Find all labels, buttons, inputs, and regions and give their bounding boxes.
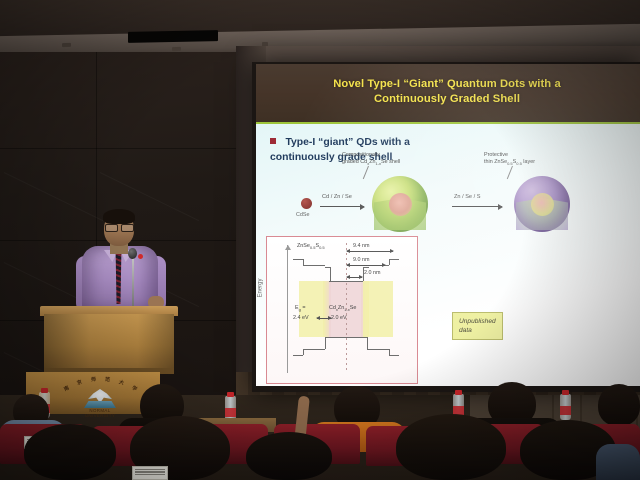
slide-title-line1: Novel Type-I “Giant” Quantum Dots with a — [256, 77, 638, 92]
bullet-square-icon — [270, 138, 276, 144]
speaker-hair — [103, 209, 135, 224]
caption-graded-shell: Compositionally graded CdxZn1-xSe shell — [342, 152, 400, 167]
dim-mid-label: 9.0 nm — [353, 257, 369, 263]
energy-axis-label: Energy — [258, 278, 264, 297]
eyeglasses-icon — [105, 224, 133, 230]
emblem-base — [84, 401, 116, 408]
band-shell-right — [363, 281, 393, 337]
slide-body: Type-I “giant” QDs with a continuously g… — [256, 124, 640, 386]
slide-title-line2: Continuously Graded Shell — [256, 92, 638, 107]
university-emblem: 南 京 师 范 大 学 NORMAL UNIVERSITY — [58, 376, 142, 414]
eg-shell-value: 2.4 eV — [293, 315, 309, 321]
eg-core-value: 2.0 eV — [331, 315, 347, 321]
slide-header: Novel Type-I “Giant” Quantum Dots with a… — [256, 64, 640, 124]
emblem-char: 大 — [118, 378, 125, 386]
microphone-stem — [132, 254, 134, 312]
ceiling-vent-icon — [62, 43, 71, 47]
podium-shading — [44, 314, 174, 372]
caption-protective-layer: Protective thin ZnSe0.5S0.5 layer — [484, 152, 535, 167]
qd-core — [389, 193, 412, 216]
dim-outer-label: 9.4 nm — [353, 243, 369, 249]
arrow2-label: Zn / Se / S — [454, 194, 480, 200]
emblem-char: 京 — [76, 378, 83, 386]
cdse-core-dot — [301, 198, 312, 209]
bottle-cap — [227, 392, 234, 397]
emblem-char: 师 — [91, 376, 97, 383]
bottle-label — [560, 406, 571, 415]
emblem-char: 南 — [63, 384, 71, 393]
microphone-icon — [128, 248, 137, 259]
audience-head-front — [246, 432, 332, 480]
qd-synthesis-diagram: Compositionally graded CdxZn1-xSe shell … — [256, 168, 640, 236]
label-znses-shell: ZnSe0.5S0.5 — [297, 243, 325, 250]
emblem-char: 学 — [131, 384, 139, 393]
audience-head-front — [24, 424, 116, 480]
energy-axis — [287, 245, 288, 373]
label-cdse: CdSe — [296, 212, 310, 219]
arrow1-label: Cd / Zn / Se — [322, 194, 352, 200]
bottle-cap — [455, 390, 462, 395]
audience-head — [598, 384, 640, 426]
emblem-char: 范 — [105, 376, 111, 383]
eg-symbol: Eg = — [295, 305, 306, 312]
audience-head-front — [396, 414, 506, 480]
projection-screen: Novel Type-I “Giant” Quantum Dots with a… — [256, 64, 640, 386]
audience-shoulders — [596, 444, 640, 480]
emblem-subtext: NORMAL UNIVERSITY — [74, 408, 126, 418]
bullet-line1: Type-I “giant” QDs with a — [285, 137, 410, 148]
lecture-photo-scene: Novel Type-I “Giant” Quantum Dots with a… — [0, 0, 640, 480]
energy-band-diagram: Energy ZnSe0.5S0.5 — [266, 236, 418, 384]
bottle-cap — [562, 390, 569, 395]
core-material-label: CdxZn1-xSe — [329, 305, 356, 312]
bottle-cap — [41, 388, 48, 393]
seat-name-card — [132, 466, 168, 480]
microphone-indicator — [138, 254, 143, 259]
unpublished-data-note: Unpublisheddata — [452, 312, 503, 340]
ceiling-light-slot — [128, 30, 218, 43]
qd-core — [531, 193, 554, 216]
dim-core-label: 2.0 nm — [364, 270, 380, 276]
slide-title: Novel Type-I “Giant” Quantum Dots with a… — [256, 77, 638, 107]
ceiling-vent-icon — [172, 47, 181, 51]
bottle-label — [225, 408, 236, 417]
